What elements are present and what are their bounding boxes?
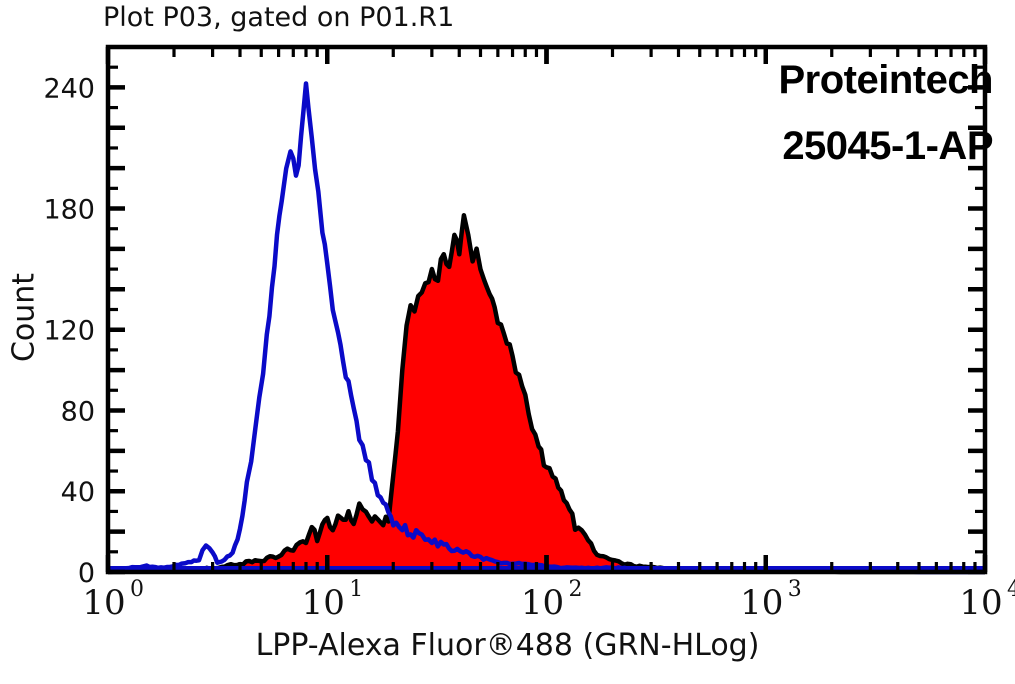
x-tick-label: 102 <box>521 577 583 623</box>
y-tick-label: 180 <box>43 195 95 226</box>
x-tick-label: 104 <box>959 577 1015 623</box>
histogram-traces <box>108 84 985 573</box>
flow-cytometry-plot: Plot P03, gated on P01.R1 Proteintech 25… <box>0 0 1015 684</box>
y-tick-label: 40 <box>61 477 95 508</box>
y-tick-label: 80 <box>61 396 95 427</box>
x-tick-label: 100 <box>82 577 144 623</box>
svg-text:10: 10 <box>82 583 125 623</box>
y-tick-labels: 04080120180240 <box>43 73 95 589</box>
y-tick-label: 240 <box>43 73 95 104</box>
svg-text:1: 1 <box>349 577 363 602</box>
svg-text:3: 3 <box>788 577 802 602</box>
plot-canvas: 04080120180240 100101102103104 <box>0 0 1015 684</box>
x-tick-label: 103 <box>740 577 802 623</box>
svg-text:10: 10 <box>959 583 1002 623</box>
svg-text:0: 0 <box>130 577 144 602</box>
sample-histogram-fill <box>108 215 985 572</box>
x-tick-labels: 100101102103104 <box>82 577 1015 623</box>
x-tick-label: 101 <box>302 577 364 623</box>
svg-text:2: 2 <box>569 577 583 602</box>
svg-text:10: 10 <box>740 583 783 623</box>
svg-text:10: 10 <box>302 583 345 623</box>
svg-text:4: 4 <box>1007 577 1015 602</box>
svg-text:10: 10 <box>521 583 564 623</box>
y-tick-label: 120 <box>43 316 95 347</box>
